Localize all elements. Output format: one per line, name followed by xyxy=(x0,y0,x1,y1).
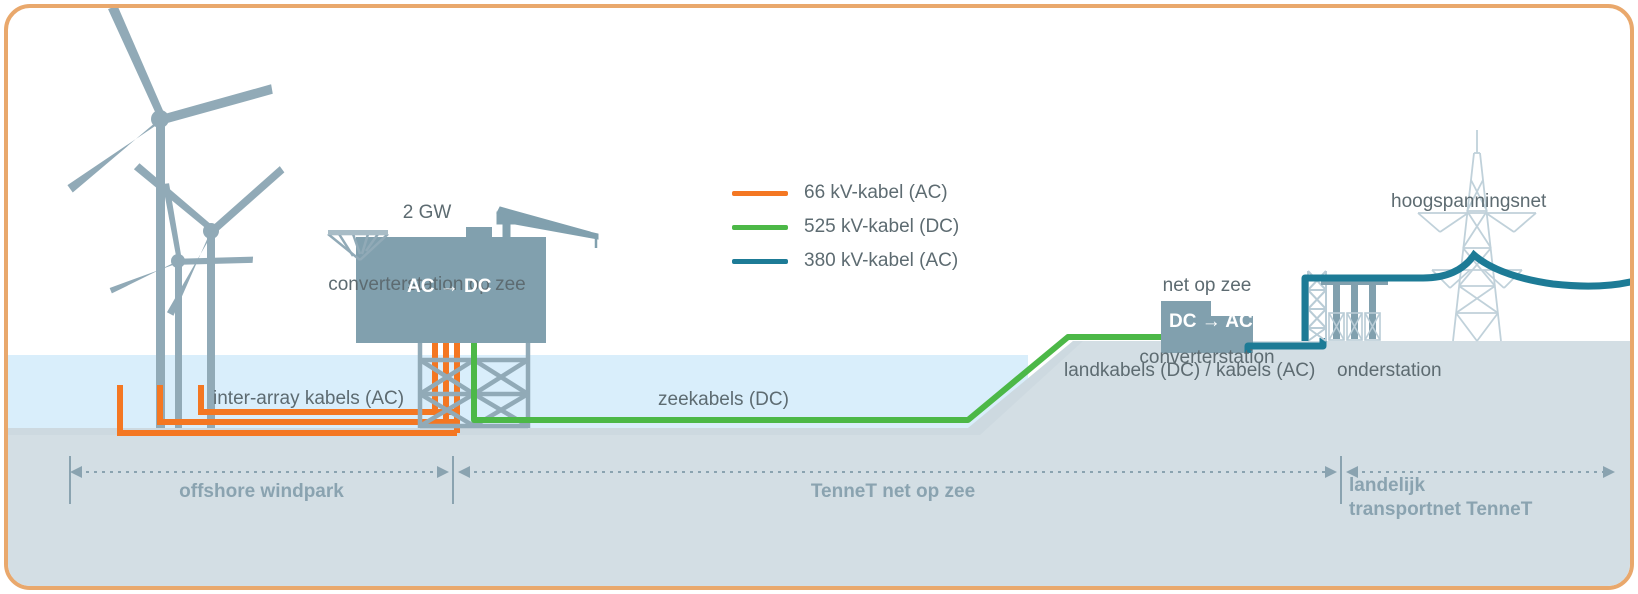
segment-label-offshore-windpark: offshore windpark xyxy=(70,480,453,504)
land-cable-label: landkabels (DC) / kabels (AC) xyxy=(1064,359,1315,383)
legend-item-525kv: 525 kV-kabel (DC) xyxy=(732,210,959,244)
legend: 66 kV-kabel (AC) 525 kV-kabel (DC) 380 k… xyxy=(732,176,959,278)
sea-cable-label: zeekabels (DC) xyxy=(658,388,789,412)
substation-label: onderstation xyxy=(1337,359,1442,383)
grid-label: hoogspanningsnet xyxy=(1391,190,1546,214)
legend-label-380kv: 380 kV-kabel (AC) xyxy=(804,250,958,272)
inter-array-cable-label: inter-array kabels (AC) xyxy=(213,387,404,411)
legend-item-66kv: 66 kV-kabel (AC) xyxy=(732,176,959,210)
transmission-pylon xyxy=(1418,130,1536,341)
offshore-station-badge: AC → DC xyxy=(407,276,491,298)
legend-item-380kv: 380 kV-kabel (AC) xyxy=(732,244,959,278)
offshore-station-label-line1: 2 GW xyxy=(292,201,562,225)
offshore-station-label: 2 GW converterstation op zee xyxy=(292,153,562,345)
legend-swatch-66kv xyxy=(732,191,788,196)
legend-swatch-380kv xyxy=(732,259,788,264)
legend-swatch-525kv xyxy=(732,225,788,230)
infographic-canvas: 2 GW converterstation op zee AC → DC net… xyxy=(0,0,1638,594)
legend-label-525kv: 525 kV-kabel (DC) xyxy=(804,216,959,238)
legend-label-66kv: 66 kV-kabel (AC) xyxy=(804,182,948,204)
onshore-station-label-line1: net op zee xyxy=(1082,274,1332,298)
segment-label-landelijk-transportnet: landelijktransportnet TenneT xyxy=(1349,474,1532,522)
diagram-frame: 2 GW converterstation op zee AC → DC net… xyxy=(4,4,1634,590)
onshore-station-badge: DC → AC xyxy=(1169,311,1253,333)
segment-label-tennet-net-op-zee: TenneT net op zee xyxy=(458,480,1328,504)
